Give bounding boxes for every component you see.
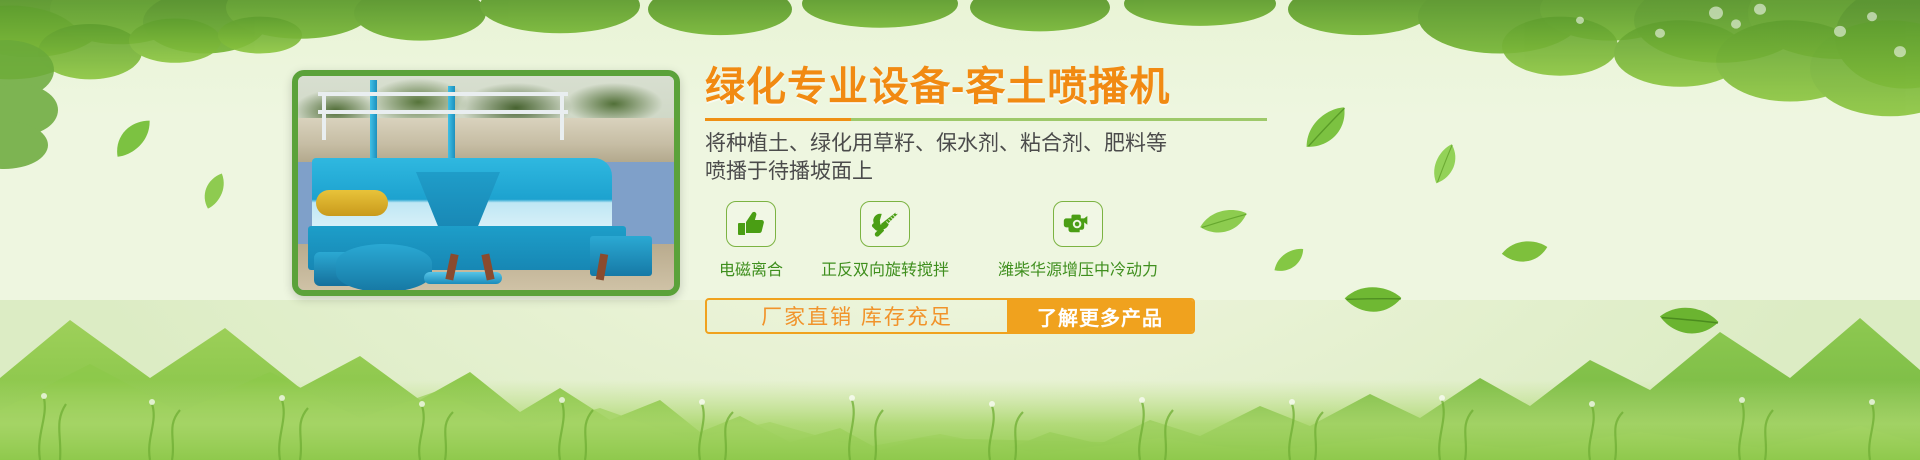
grass-foreground	[0, 342, 1920, 460]
wrench-screwdriver-icon	[860, 201, 910, 247]
feature-label: 电磁离合	[719, 256, 783, 280]
photo-wall	[298, 118, 674, 162]
engine-power-icon	[1053, 201, 1103, 247]
cta-slogan: 厂家直销 库存充足	[707, 300, 1007, 332]
feature-item-2[interactable]: 潍柴华源增压中冷动力	[973, 201, 1183, 280]
title-divider	[705, 118, 1267, 121]
feature-item-0[interactable]: 电磁离合	[705, 201, 797, 280]
thumbs-up-icon	[726, 201, 776, 247]
photo-rail	[560, 92, 564, 140]
photo-pump	[336, 244, 432, 292]
feature-label: 潍柴华源增压中冷动力	[998, 256, 1158, 280]
subtitle-line-1: 将种植土、绿化用草籽、保水剂、粘合剂、肥料等	[705, 130, 1285, 158]
promo-banner: 绿化专业设备-客土喷播机 将种植土、绿化用草籽、保水剂、粘合剂、肥料等 喷播于待…	[0, 0, 1920, 460]
photo-rail	[318, 110, 568, 114]
feature-list: 电磁离合	[705, 201, 1285, 280]
product-photo[interactable]	[292, 70, 680, 296]
photo-mast	[448, 86, 455, 164]
feature-label: 正反双向旋转搅拌	[821, 256, 949, 280]
subtitle-line-2: 喷播于待播坡面上	[705, 158, 1285, 186]
photo-rail	[322, 92, 326, 140]
learn-more-button[interactable]: 了解更多产品	[1007, 300, 1193, 332]
cta-bar: 厂家直销 库存充足 了解更多产品	[705, 298, 1195, 334]
banner-content: 绿化专业设备-客土喷播机 将种植土、绿化用草籽、保水剂、粘合剂、肥料等 喷播于待…	[705, 64, 1285, 334]
page-title: 绿化专业设备-客土喷播机	[705, 64, 1285, 110]
photo-yellow-cylinder	[316, 190, 388, 216]
feature-item-1[interactable]: 正反双向旋转搅拌	[797, 201, 973, 280]
photo-rail	[318, 92, 568, 96]
subtitle: 将种植土、绿化用草籽、保水剂、粘合剂、肥料等 喷播于待播坡面上	[705, 130, 1285, 185]
